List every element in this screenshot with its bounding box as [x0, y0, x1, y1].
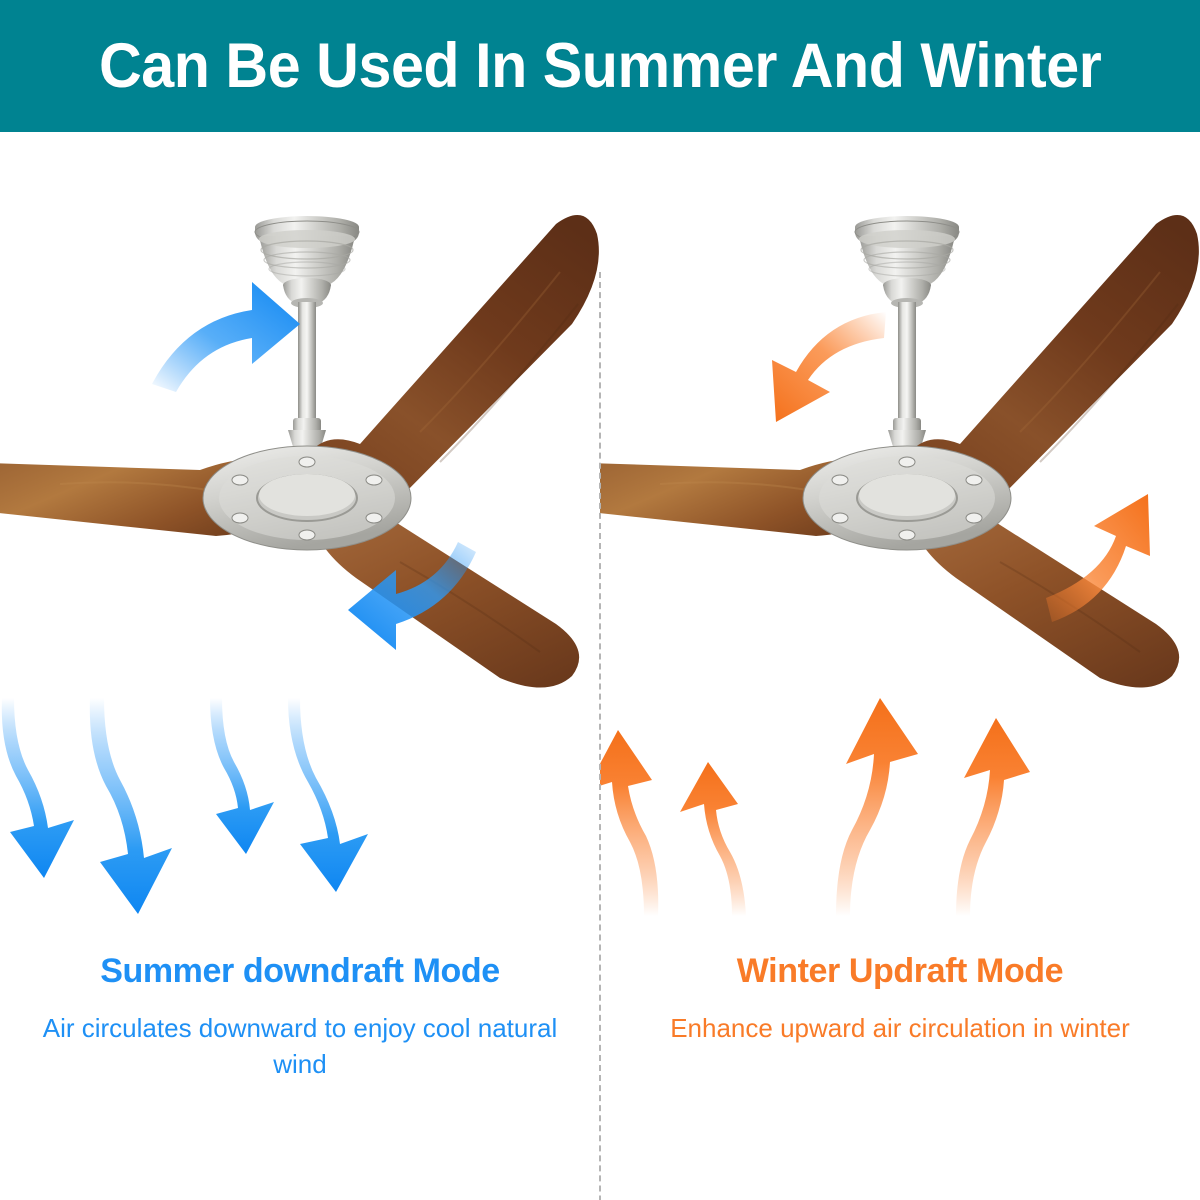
airflow-updraft	[600, 692, 1200, 922]
fan-illustration-summer	[0, 132, 600, 692]
ceiling-canopy-icon	[855, 216, 959, 308]
updraft-arrow-3	[836, 698, 918, 916]
downdraft-arrows-icon	[0, 692, 600, 922]
updraft-arrows-icon	[600, 692, 1200, 922]
downdraft-arrow-1	[2, 698, 74, 878]
downrod-icon	[888, 302, 926, 450]
header-banner: Can Be Used In Summer And Winter	[0, 0, 1200, 132]
motor-hub-icon	[803, 446, 1011, 550]
downdraft-arrow-3	[210, 698, 274, 854]
downdraft-arrow-2	[90, 698, 172, 914]
caption-body-summer: Air circulates downward to enjoy cool na…	[0, 1011, 600, 1083]
updraft-arrow-4	[956, 718, 1030, 916]
panel-divider	[599, 272, 601, 1200]
caption-summer: Summer downdraft Mode Air circulates dow…	[0, 952, 600, 1083]
motor-hub-icon	[203, 446, 411, 550]
caption-body-winter: Enhance upward air circulation in winter	[600, 1011, 1200, 1047]
ceiling-fan-icon	[0, 132, 600, 692]
updraft-arrow-2	[680, 762, 746, 916]
fan-illustration-winter	[600, 132, 1200, 692]
infographic-page: Can Be Used In Summer And Winter	[0, 0, 1200, 1200]
page-title: Can Be Used In Summer And Winter	[99, 35, 1101, 98]
ceiling-canopy-icon	[255, 216, 359, 308]
caption-title-summer: Summer downdraft Mode	[0, 952, 600, 991]
rotation-arrow-top	[152, 282, 300, 392]
caption-winter: Winter Updraft Mode Enhance upward air c…	[600, 952, 1200, 1047]
ceiling-fan-icon	[600, 132, 1200, 692]
panel-winter: Winter Updraft Mode Enhance upward air c…	[600, 132, 1200, 1200]
downdraft-arrow-4	[288, 698, 368, 892]
caption-title-winter: Winter Updraft Mode	[600, 952, 1200, 991]
rotation-arrow-top	[772, 312, 886, 422]
updraft-arrow-1	[600, 730, 658, 916]
airflow-downdraft	[0, 692, 600, 922]
comparison-panels: Summer downdraft Mode Air circulates dow…	[0, 132, 1200, 1200]
panel-summer: Summer downdraft Mode Air circulates dow…	[0, 132, 600, 1200]
